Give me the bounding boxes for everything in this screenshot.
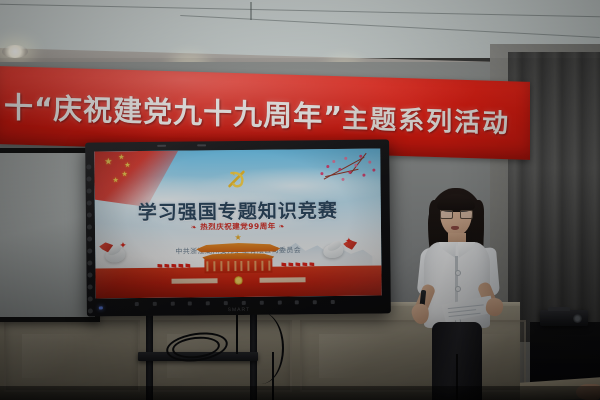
side-button[interactable] — [88, 297, 93, 302]
small-flags-left — [157, 264, 190, 268]
ornament-right: ❧ — [276, 222, 288, 230]
flag-star: ★ — [124, 162, 130, 169]
side-button[interactable] — [86, 165, 91, 170]
banner-quote-open: “ — [34, 91, 53, 126]
side-button[interactable] — [87, 261, 92, 266]
side-button[interactable] — [87, 249, 92, 254]
side-button[interactable] — [87, 213, 92, 218]
flag-star: ★ — [121, 171, 127, 178]
slide-subtitle-text: 热烈庆祝建党99周年 — [200, 222, 276, 232]
control-key[interactable] — [188, 301, 192, 305]
control-key[interactable] — [277, 301, 281, 305]
banner-text-cut-char: 十 — [4, 90, 34, 125]
side-button[interactable] — [87, 201, 92, 206]
downlight-1 — [2, 45, 28, 58]
control-key[interactable] — [224, 301, 228, 305]
presenter — [406, 186, 518, 400]
firework-right: ✦ — [345, 236, 353, 247]
eyeglasses — [440, 210, 472, 218]
side-button[interactable] — [86, 177, 91, 182]
photo-scene: 十“庆祝建党九十九周年”主题系列活动 — [0, 0, 600, 400]
display-brand-mark: SMART — [228, 307, 250, 313]
projector — [540, 310, 588, 326]
banner-headline: 庆祝建党九十九周年 — [53, 92, 323, 134]
mouth — [451, 226, 459, 230]
gate-pillars — [206, 261, 270, 272]
flag-star: ★ — [112, 177, 118, 184]
control-key[interactable] — [170, 302, 174, 306]
dove-wing — [326, 240, 342, 252]
small-flags-right — [281, 262, 314, 266]
flag-star: ★ — [118, 154, 124, 161]
side-button[interactable] — [87, 189, 92, 194]
tiananmen-graphic: ✦ ✦ — [95, 242, 382, 299]
ir-sensor-left — [157, 145, 166, 147]
slide-star-divider: ★ — [234, 233, 241, 242]
right-side-table — [530, 322, 600, 384]
wall-panel — [4, 320, 140, 392]
shirt-button — [455, 270, 461, 276]
ornament-left: ❧ — [188, 223, 200, 231]
dove-right — [323, 244, 343, 258]
floor-shadow — [0, 386, 600, 400]
banner-tail: 主题系列活动 — [342, 104, 510, 139]
side-button[interactable] — [88, 309, 93, 314]
banner-quote-close: ” — [323, 100, 342, 135]
control-key[interactable] — [331, 300, 335, 304]
banner-text: 十“庆祝建党九十九周年”主题系列活动 — [4, 84, 524, 141]
interactive-display[interactable]: ★ ★ ★ ★ ★ — [85, 139, 391, 316]
tiananmen-gate — [196, 243, 280, 274]
power-led — [99, 306, 103, 309]
side-button[interactable] — [88, 285, 93, 290]
gate-center-emblem — [235, 276, 243, 285]
display-screen[interactable]: ★ ★ ★ ★ ★ — [94, 149, 382, 299]
ir-sensor-right — [197, 144, 206, 146]
gate-banner-right — [260, 277, 306, 282]
control-key[interactable] — [242, 301, 246, 305]
control-key[interactable] — [295, 300, 299, 304]
projector-top-vent — [548, 307, 570, 311]
control-key[interactable] — [313, 300, 317, 304]
side-button[interactable] — [87, 237, 92, 242]
control-key[interactable] — [259, 301, 263, 305]
gate-upper-roof — [196, 243, 280, 253]
projector-lens — [573, 314, 582, 323]
flag-star: ★ — [104, 157, 112, 166]
gate-banner-left — [172, 278, 218, 283]
shirt-button — [455, 286, 461, 292]
control-key[interactable] — [135, 302, 139, 306]
presentation-slide: ★ ★ ★ ★ ★ — [94, 149, 382, 299]
whiteboard-surface — [0, 153, 95, 317]
party-emblem-icon — [225, 169, 249, 189]
side-button[interactable] — [87, 273, 92, 278]
display-control-keys[interactable] — [135, 300, 335, 307]
cable-run — [236, 312, 238, 354]
control-key[interactable] — [153, 302, 157, 306]
firework-left: ✦ — [119, 240, 127, 251]
control-key[interactable] — [206, 301, 210, 305]
side-button[interactable] — [87, 225, 92, 230]
